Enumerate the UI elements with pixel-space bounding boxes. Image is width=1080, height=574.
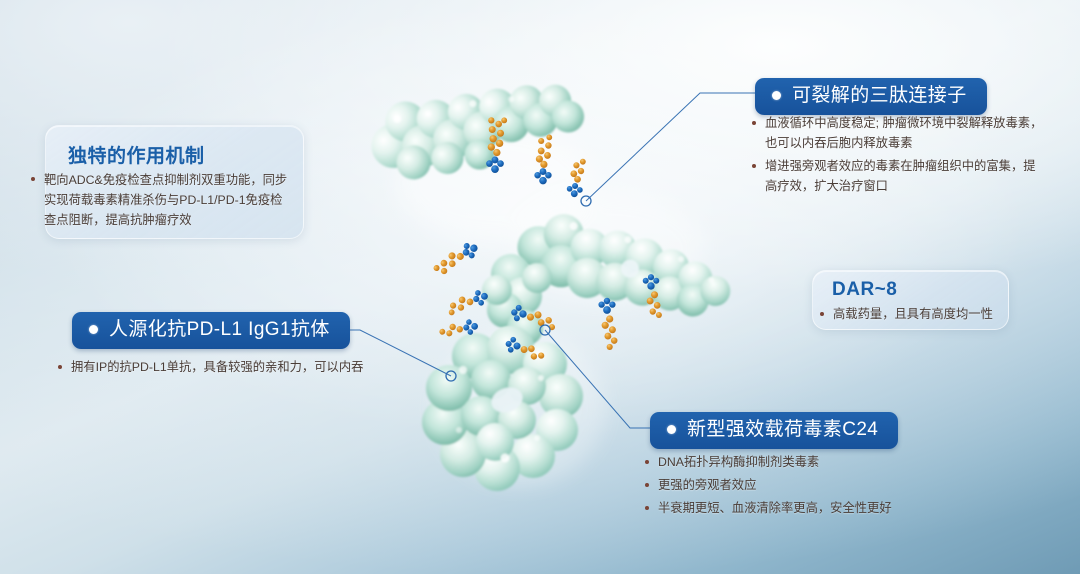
moa-bullet-list: 靶向ADC&免疫检查点抑制剂双重功能，同步实现荷载毒素精准杀伤与PD-L1/PD… bbox=[31, 170, 293, 233]
list-item: 血液循环中高度稳定; 肿瘤微环境中裂解释放毒素，也可以内吞后胞内释放毒素 bbox=[752, 114, 1044, 154]
badge-label: 人源化抗PD-L1 IgG1抗体 bbox=[109, 318, 330, 342]
list-item: 高载药量，且具有高度均一性 bbox=[820, 305, 1010, 325]
linker-bullet-list: 血液循环中高度稳定; 肿瘤微环境中裂解释放毒素，也可以内吞后胞内释放毒素 增进强… bbox=[752, 114, 1044, 200]
list-item: 拥有IP的抗PD-L1单抗，具备较强的亲和力，可以内吞 bbox=[58, 358, 378, 378]
list-bullet-icon bbox=[645, 460, 649, 464]
antibody-bullet-list: 拥有IP的抗PD-L1单抗，具备较强的亲和力，可以内吞 bbox=[58, 358, 378, 381]
dar-title: DAR~8 bbox=[832, 279, 897, 301]
list-bullet-icon bbox=[645, 483, 649, 487]
slide-canvas: 独特的作用机制 靶向ADC&免疫检查点抑制剂双重功能，同步实现荷载毒素精准杀伤与… bbox=[0, 0, 1080, 574]
list-bullet-icon bbox=[31, 177, 35, 181]
payload-bullet-list: DNA拓扑异构酶抑制剂类毒素 更强的旁观者效应 半衰期更短、血液清除率更高，安全… bbox=[645, 453, 935, 522]
badge-label: 可裂解的三肽连接子 bbox=[792, 84, 967, 108]
bullet-dot-icon bbox=[772, 91, 781, 100]
bullet-dot-icon bbox=[667, 425, 676, 434]
badge-cleavable-tripeptide-linker[interactable]: 可裂解的三肽连接子 bbox=[755, 78, 987, 115]
list-bullet-icon bbox=[58, 365, 62, 369]
list-bullet-icon bbox=[752, 121, 756, 125]
badge-novel-potent-payload-c24[interactable]: 新型强效载荷毒素C24 bbox=[650, 412, 898, 449]
list-item: 增进强旁观者效应的毒素在肿瘤组织中的富集，提高疗效，扩大治疗窗口 bbox=[752, 157, 1044, 197]
list-item: 半衰期更短、血液清除率更高，安全性更好 bbox=[645, 499, 935, 519]
list-bullet-icon bbox=[752, 164, 756, 168]
bullet-dot-icon bbox=[89, 325, 98, 334]
badge-label: 新型强效载荷毒素C24 bbox=[687, 418, 878, 442]
list-item: DNA拓扑异构酶抑制剂类毒素 bbox=[645, 453, 935, 473]
list-item: 靶向ADC&免疫检查点抑制剂双重功能，同步实现荷载毒素精准杀伤与PD-L1/PD… bbox=[31, 170, 293, 230]
badge-humanized-anti-pdl1-igg1-antibody[interactable]: 人源化抗PD-L1 IgG1抗体 bbox=[72, 312, 350, 349]
list-bullet-icon bbox=[645, 506, 649, 510]
list-item: 更强的旁观者效应 bbox=[645, 476, 935, 496]
moa-title: 独特的作用机制 bbox=[68, 141, 205, 168]
dar-bullet-list: 高载药量，且具有高度均一性 bbox=[820, 305, 1010, 328]
list-bullet-icon bbox=[820, 312, 824, 316]
